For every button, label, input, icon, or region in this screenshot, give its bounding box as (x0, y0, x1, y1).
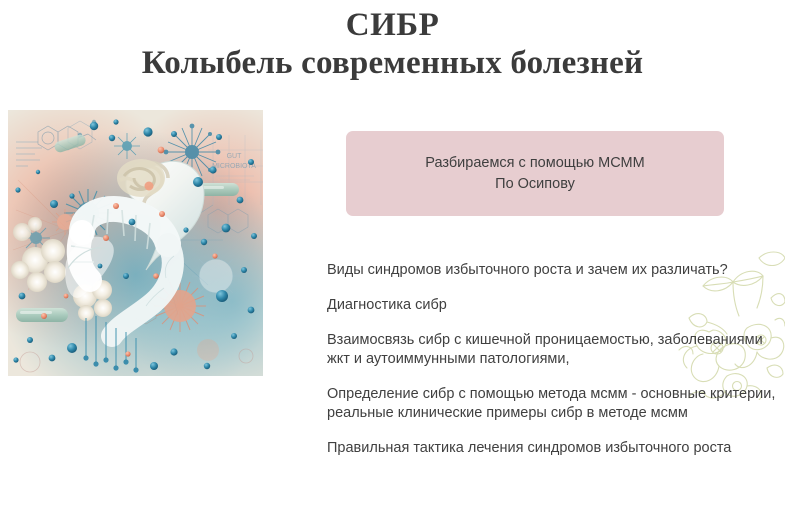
list-item: Определение сибр с помощью метода мсмм -… (327, 385, 779, 423)
illustration-overlay-gut: GUT (227, 153, 243, 160)
gut-microbiota-illustration: GUT MICROBIOTA (8, 110, 263, 376)
list-item: Правильная тактика лечения синдромов изб… (327, 439, 779, 458)
page-title: СИБР Колыбель современных болезней (0, 6, 785, 82)
presentation-slide: СИБР Колыбель современных болезней (0, 0, 785, 510)
bullet-list: Виды синдромов избыточного роста и зачем… (327, 261, 779, 458)
list-item: Виды синдромов избыточного роста и зачем… (327, 261, 779, 280)
illustration-canvas: GUT MICROBIOTA (8, 110, 263, 376)
list-item: Диагностика сибр (327, 296, 779, 315)
list-item: Взаимосвязь сибр с кишечной проницаемост… (327, 331, 779, 369)
callout-text: Разбираемся с помощью МСММ По Осипову (425, 153, 644, 195)
title-line-primary: СИБР (0, 6, 785, 44)
callout-box: Разбираемся с помощью МСММ По Осипову (346, 131, 724, 216)
title-line-secondary: Колыбель современных болезней (0, 44, 785, 82)
